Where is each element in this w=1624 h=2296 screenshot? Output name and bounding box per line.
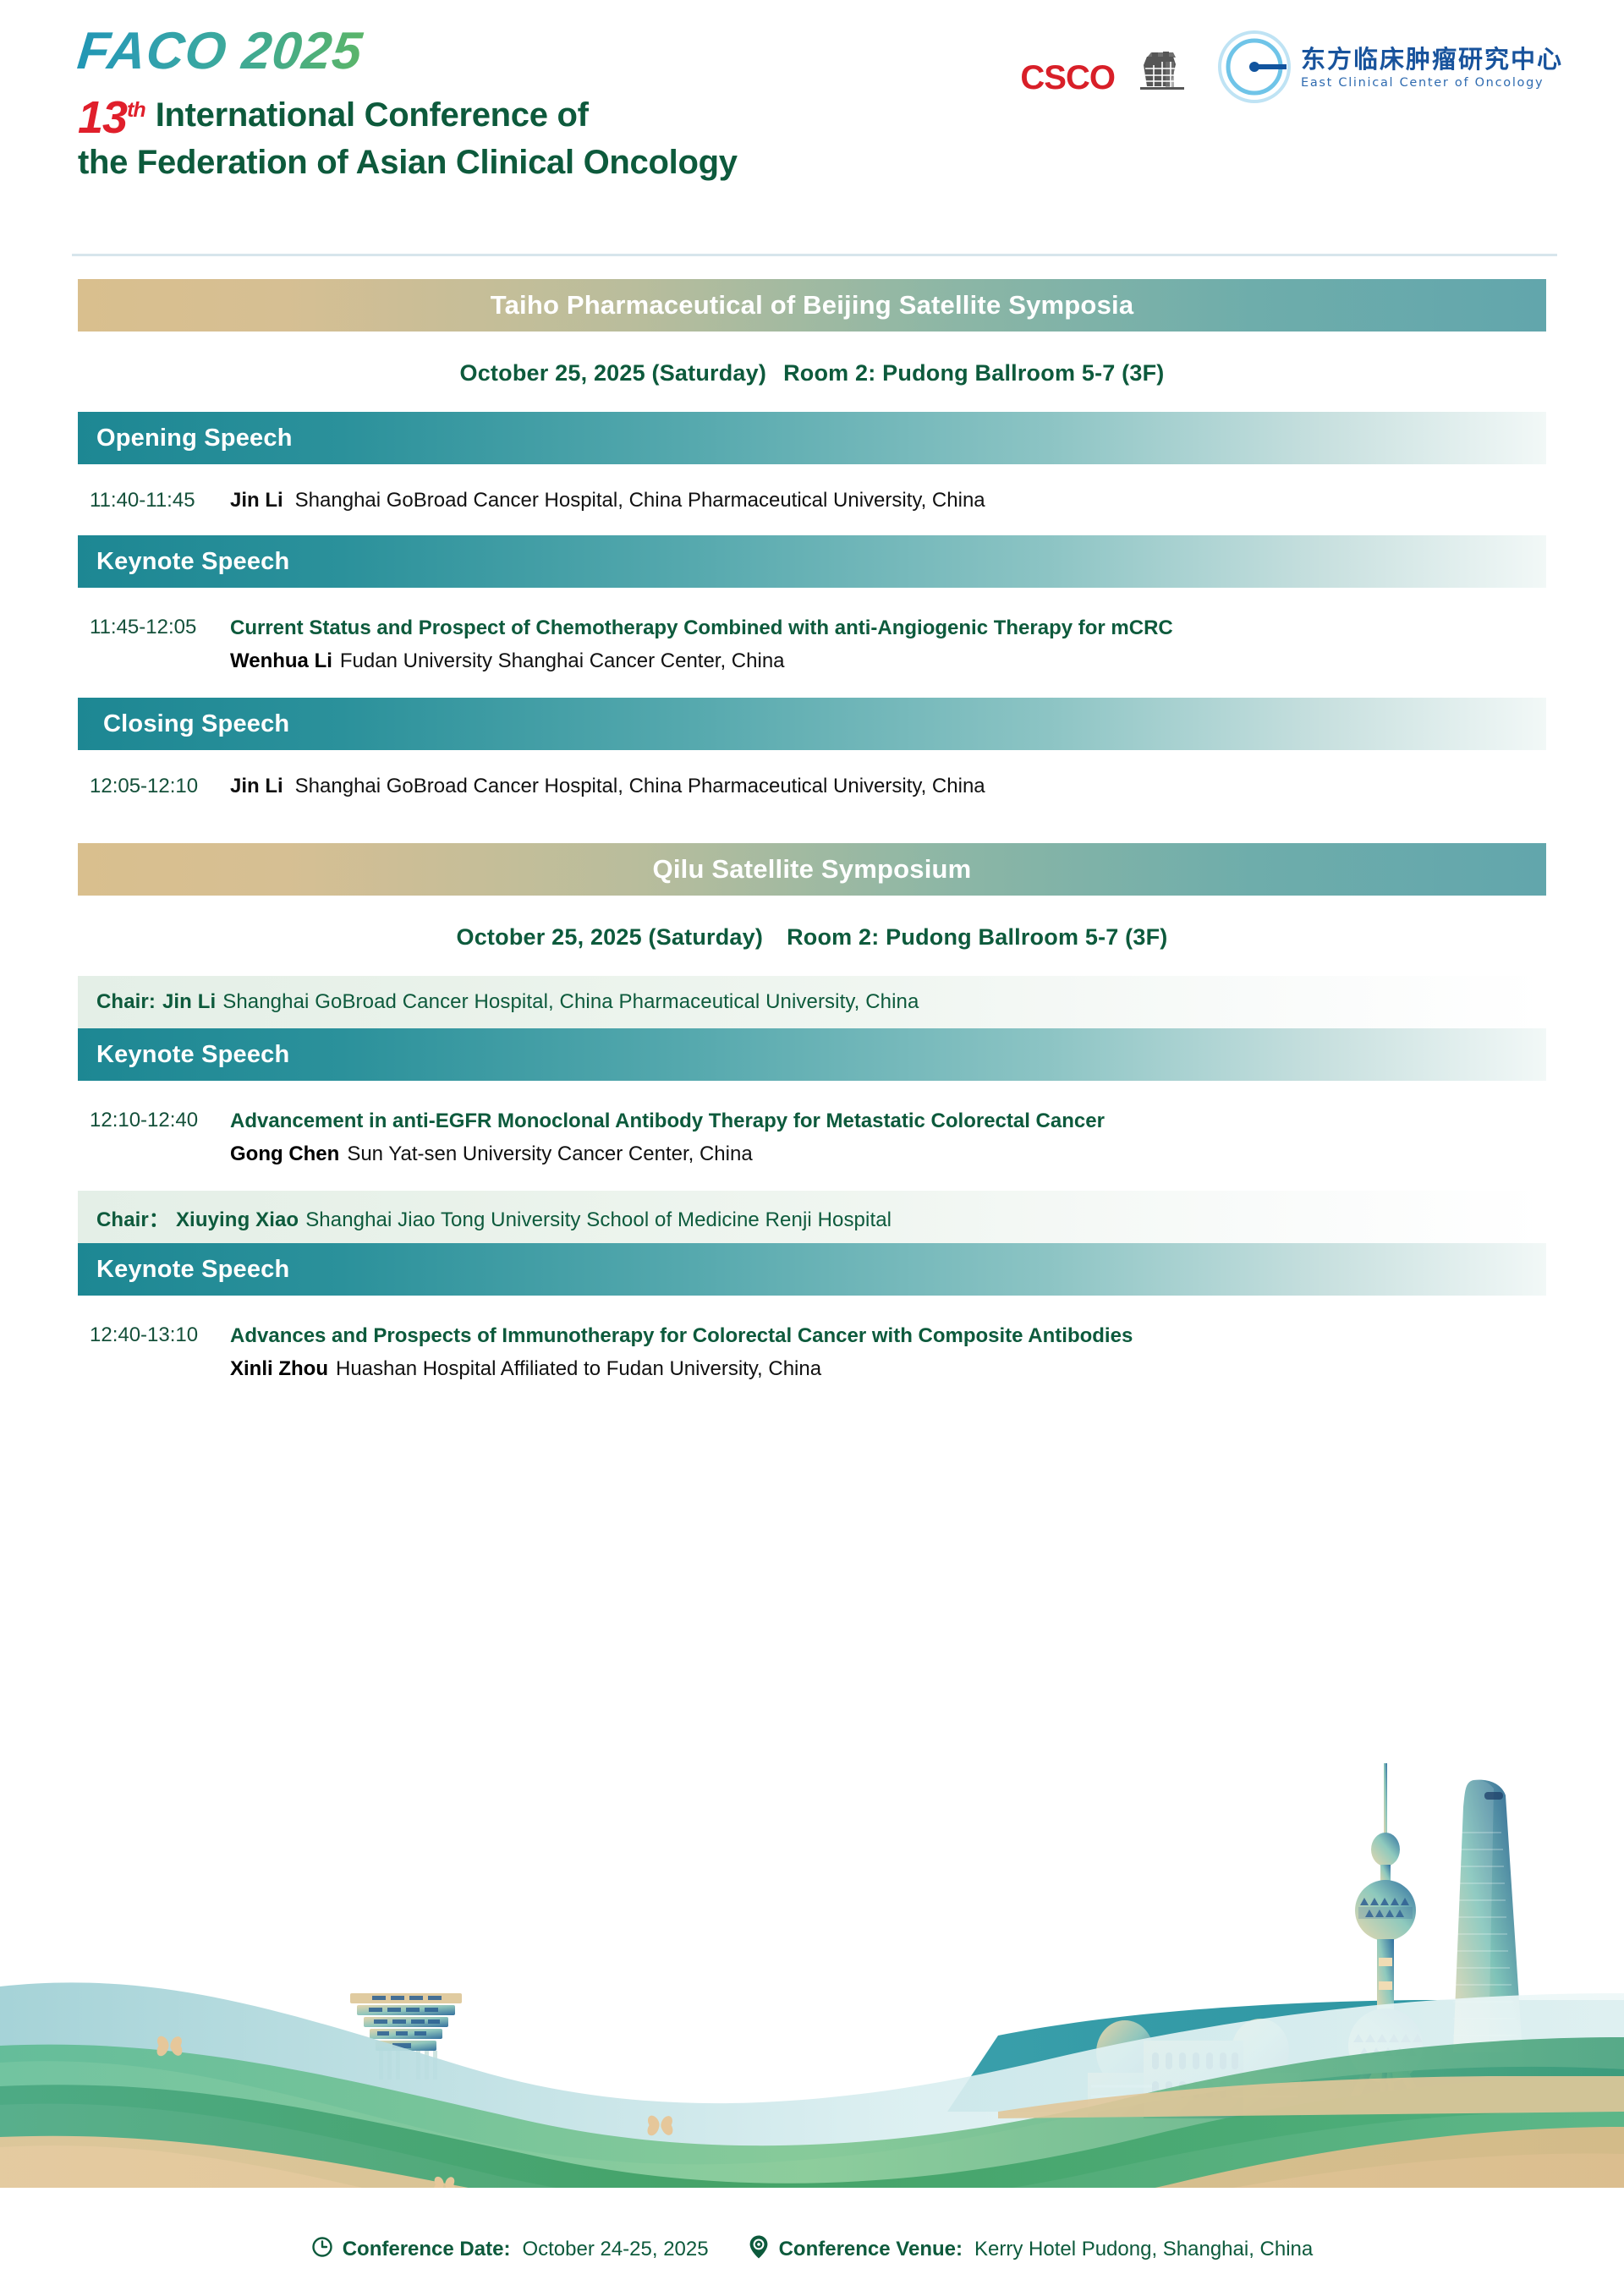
- section-header-keynote-speech-2: Keynote Speech: [78, 1028, 1546, 1081]
- shanghai-skyline-illustration: [0, 1714, 1624, 2188]
- entry-speaker-line: Gong ChenSun Yat-sen University Cancer C…: [230, 1140, 1546, 1169]
- entry-time: 11:40-11:45: [78, 486, 222, 515]
- symposium-room: Room 2: Pudong Ballroom 5-7 (3F): [787, 924, 1167, 950]
- conference-title-line-1: International Conference of: [156, 95, 589, 137]
- csco-logo-text: CSCO: [1020, 61, 1115, 95]
- entry-speaker-name: Gong Chen: [230, 1143, 339, 1165]
- conference-date-value: October 24-25, 2025: [522, 2238, 708, 2261]
- entry-speaker-affiliation: Shanghai GoBroad Cancer Hospital, China …: [295, 775, 985, 797]
- program-content: Taiho Pharmaceutical of Beijing Satellit…: [0, 279, 1624, 1406]
- header-divider: [72, 254, 1557, 256]
- entry-time: 12:05-12:10: [78, 772, 222, 801]
- faco-brand-logo: FACO 2025: [75, 25, 365, 78]
- concentric-target-icon: [1218, 30, 1291, 107]
- entry-speaker-name: Jin Li: [230, 489, 283, 512]
- conference-date-label: Conference Date:: [343, 2238, 511, 2261]
- conference-venue-value: Kerry Hotel Pudong, Shanghai, China: [974, 2238, 1313, 2261]
- chair-name: Jin Li: [162, 990, 216, 1013]
- conference-date-item: Conference Date: October 24-25, 2025: [311, 2236, 709, 2262]
- chair-row: Chair：Xiuying XiaoShanghai Jiao Tong Uni…: [78, 1191, 1546, 1243]
- program-entry: 11:45-12:05 Current Status and Prospect …: [78, 588, 1546, 698]
- symposium-banner-title: Qilu Satellite Symposium: [653, 854, 972, 885]
- conference-venue-item: Conference Venue: Kerry Hotel Pudong, Sh…: [748, 2234, 1314, 2264]
- chair-label: Chair：: [96, 1208, 169, 1231]
- entry-speaker-name: Xinli Zhou: [230, 1357, 328, 1380]
- section-header-label: Keynote Speech: [78, 1256, 289, 1284]
- chair-text: Chair：Xiuying XiaoShanghai Jiao Tong Uni…: [78, 1203, 892, 1232]
- entry-speaker-line: Xinli ZhouHuashan Hospital Affiliated to…: [230, 1355, 1546, 1384]
- conference-title-block: 13th International Conference of the Fed…: [78, 95, 1624, 184]
- entry-speaker-affiliation: Huashan Hospital Affiliated to Fudan Uni…: [336, 1357, 821, 1380]
- entry-body: Advancement in anti-EGFR Monoclonal Anti…: [222, 1106, 1546, 1169]
- entry-body: Jin LiShanghai GoBroad Cancer Hospital, …: [222, 772, 1546, 801]
- page-header: FACO 2025 13th International Conference …: [0, 0, 1624, 247]
- program-entry: 12:05-12:10 Jin LiShanghai GoBroad Cance…: [78, 750, 1546, 821]
- eco-logo-text-group: 东方临床肿瘤研究中心 East Clinical Center of Oncol…: [1301, 47, 1563, 90]
- chair-name: Xiuying Xiao: [176, 1208, 299, 1231]
- symposium-date-room: October 25, 2025 (Saturday)Room 2: Pudon…: [78, 896, 1546, 976]
- entry-talk-title: Advances and Prospects of Immunotherapy …: [230, 1321, 1427, 1351]
- program-entry: 12:10-12:40 Advancement in anti-EGFR Mon…: [78, 1081, 1546, 1191]
- section-header-label: Opening Speech: [78, 425, 293, 452]
- symposium-room: Room 2: Pudong Ballroom 5-7 (3F): [783, 360, 1164, 386]
- program-entry: 12:40-13:10 Advances and Prospects of Im…: [78, 1296, 1546, 1406]
- chair-affiliation: Shanghai GoBroad Cancer Hospital, China …: [222, 990, 919, 1013]
- symposium-date-room: October 25, 2025 (Saturday)Room 2: Pudon…: [78, 332, 1546, 412]
- program-entry: 11:40-11:45 Jin LiShanghai GoBroad Cance…: [78, 464, 1546, 535]
- symposium-banner: Taiho Pharmaceutical of Beijing Satellit…: [78, 279, 1546, 332]
- symposium-date: October 25, 2025 (Saturday): [460, 360, 767, 386]
- map-pin-icon: [748, 2234, 770, 2264]
- csco-logo: CSCO: [1020, 43, 1184, 95]
- footer-info: Conference Date: October 24-25, 2025 Con…: [0, 2234, 1624, 2264]
- section-header-closing-speech: Closing Speech: [78, 698, 1546, 750]
- section-header-opening-speech: Opening Speech: [78, 412, 1546, 464]
- entry-speaker-affiliation: Shanghai GoBroad Cancer Hospital, China …: [295, 489, 985, 512]
- entry-talk-title: Current Status and Prospect of Chemother…: [230, 613, 1427, 643]
- entry-speaker-line: Jin LiShanghai GoBroad Cancer Hospital, …: [230, 486, 1546, 515]
- chair-row: Chair:Jin LiShanghai GoBroad Cancer Hosp…: [78, 976, 1546, 1028]
- entry-speaker-line: Wenhua LiFudan University Shanghai Cance…: [230, 647, 1546, 676]
- ordinal-number: 13: [78, 92, 127, 143]
- chair-text: Chair:Jin LiShanghai GoBroad Cancer Hosp…: [78, 990, 919, 1014]
- entry-body: Advances and Prospects of Immunotherapy …: [222, 1321, 1546, 1384]
- conference-title-line-2: the Federation of Asian Clinical Oncolog…: [78, 142, 1624, 184]
- section-header-label: Closing Speech: [78, 710, 289, 738]
- symposium-date: October 25, 2025 (Saturday): [457, 924, 764, 950]
- entry-body: Current Status and Prospect of Chemother…: [222, 613, 1546, 676]
- entry-time: 12:10-12:40: [78, 1106, 222, 1135]
- entry-body: Jin LiShanghai GoBroad Cancer Hospital, …: [222, 486, 1546, 515]
- chair-label: Chair:: [96, 990, 156, 1013]
- conference-venue-label: Conference Venue:: [779, 2238, 963, 2261]
- eco-logo: 东方临床肿瘤研究中心 East Clinical Center of Oncol…: [1218, 30, 1563, 107]
- partner-logos: CSCO: [1020, 30, 1563, 107]
- symposium-banner: Qilu Satellite Symposium: [78, 843, 1546, 896]
- entry-speaker-affiliation: Sun Yat-sen University Cancer Center, Ch…: [347, 1143, 752, 1165]
- symposium-banner-title: Taiho Pharmaceutical of Beijing Satellit…: [491, 290, 1134, 321]
- clock-icon: [311, 2236, 333, 2262]
- eco-logo-text-en: East Clinical Center of Oncology: [1301, 76, 1563, 90]
- entry-time: 11:45-12:05: [78, 613, 222, 642]
- entry-speaker-name: Wenhua Li: [230, 649, 332, 672]
- eco-logo-text-cn: 东方临床肿瘤研究中心: [1301, 47, 1563, 74]
- conference-program-page: FACO 2025 13th International Conference …: [0, 0, 1624, 2296]
- ordinal-suffix: th: [127, 98, 145, 122]
- entry-speaker-affiliation: Fudan University Shanghai Cancer Center,…: [340, 649, 785, 672]
- great-wall-icon: [1118, 43, 1184, 95]
- entry-talk-title: Advancement in anti-EGFR Monoclonal Anti…: [230, 1106, 1427, 1136]
- entry-speaker-line: Jin LiShanghai GoBroad Cancer Hospital, …: [230, 772, 1546, 801]
- entry-speaker-name: Jin Li: [230, 775, 283, 797]
- entry-time: 12:40-13:10: [78, 1321, 222, 1350]
- section-header-label: Keynote Speech: [78, 1041, 289, 1069]
- section-header-keynote-speech-1: Keynote Speech: [78, 535, 1546, 588]
- chair-affiliation: Shanghai Jiao Tong University School of …: [305, 1208, 892, 1231]
- conference-ordinal: 13th: [78, 95, 145, 140]
- section-header-label: Keynote Speech: [78, 548, 289, 576]
- section-header-keynote-speech-3: Keynote Speech: [78, 1243, 1546, 1296]
